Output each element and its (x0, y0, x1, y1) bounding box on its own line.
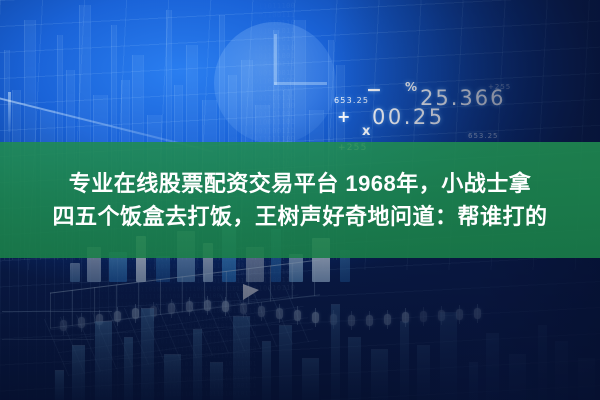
caption-line-1: 专业在线股票配资交易平台 1968年，小战士拿 (69, 169, 532, 198)
caption-text: 专业在线股票配资交易平台 1968年，小战士拿 四五个饭盒去打饭，王树声好奇地问… (0, 142, 600, 258)
stock-market-banner-image: 0100110101110010011010010110111001100111… (0, 0, 600, 400)
caption-line-2: 四五个饭盒去打饭，王树声好奇地问道：帮谁打的 (52, 202, 547, 231)
